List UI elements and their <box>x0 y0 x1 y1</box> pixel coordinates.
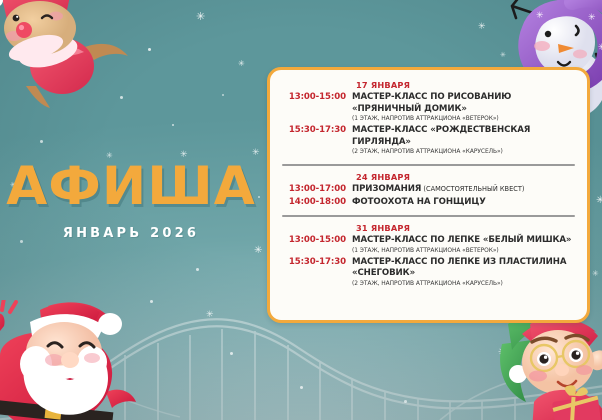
snow-dot <box>196 268 199 271</box>
event-title: МАСТЕР-КЛАСС ПО ЛЕПКЕ «БЕЛЫЙ МИШКА» <box>352 235 577 247</box>
schedule-group: 24 ЯНВАРЯ13:00-17:00ПРИЗОМАНИЯ (САМОСТОЯ… <box>278 172 579 208</box>
event-title: МАСТЕР-КЛАСС «РОЖДЕСТВЕНСКАЯ ГИРЛЯНДА» <box>352 125 577 148</box>
event-title: ФОТООХОТА НА ГОНЩИЦУ <box>352 197 577 209</box>
poster-canvas: ✳ ✳ ✳ ✳ ✳ ✳ ✳ ✳ ✳ ✳ ✳ ✳ ✳ <box>0 0 602 420</box>
santa-character <box>0 300 138 420</box>
event-time: 13:00-15:00 <box>280 235 352 247</box>
snow-dot <box>404 400 407 403</box>
event-time: 15:30-17:30 <box>280 257 352 269</box>
schedule-event-row: 15:30-17:30МАСТЕР-КЛАСС «РОЖДЕСТВЕНСКАЯ … <box>280 125 577 157</box>
schedule-event-row: 13:00-15:00МАСТЕР-КЛАСС ПО РИСОВАНИЮ«ПРЯ… <box>280 92 577 124</box>
schedule-card: 17 ЯНВАРЯ13:00-15:00МАСТЕР-КЛАСС ПО РИСО… <box>267 67 590 323</box>
schedule-event-row: 13:00-17:00ПРИЗОМАНИЯ (САМОСТОЯТЕЛЬНЫЙ К… <box>280 184 577 196</box>
event-title: ПРИЗОМАНИЯ (САМОСТОЯТЕЛЬНЫЙ КВЕСТ) <box>352 184 577 196</box>
event-location: (1 ЭТАЖ, НАПРОТИВ АТТРАКЦИОНА «ВЕТЕРОК») <box>352 247 577 256</box>
snowflake-decoration: ✳ <box>596 196 602 206</box>
event-time: 15:30-17:30 <box>280 125 352 137</box>
snow-dot <box>40 140 43 143</box>
svg-text:✳: ✳ <box>598 43 602 53</box>
page-title: АФИША <box>0 160 262 213</box>
snow-dot <box>148 48 151 51</box>
snow-dot <box>222 94 224 96</box>
event-location: (2 ЭТАЖ, НАПРОТИВ АТТРАКЦИОНА «КАРУСЕЛЬ»… <box>352 148 577 157</box>
schedule-group: 31 ЯНВАРЯ13:00-15:00МАСТЕР-КЛАСС ПО ЛЕПК… <box>278 223 579 289</box>
event-body: МАСТЕР-КЛАСС ПО ЛЕПКЕ ИЗ ПЛАСТИЛИНА«СНЕГ… <box>352 257 577 289</box>
event-body: ПРИЗОМАНИЯ (САМОСТОЯТЕЛЬНЫЙ КВЕСТ) <box>352 184 577 196</box>
event-time: 13:00-15:00 <box>280 92 352 104</box>
svg-text:✳: ✳ <box>536 11 544 21</box>
svg-text:✳: ✳ <box>588 13 596 23</box>
page-subtitle: ЯНВАРЬ 2026 <box>0 226 262 241</box>
event-title-line2: «СНЕГОВИК» <box>352 268 577 280</box>
event-time: 14:00-18:00 <box>280 197 352 209</box>
event-body: МАСТЕР-КЛАСС ПО РИСОВАНИЮ«ПРЯНИЧНЫЙ ДОМИ… <box>352 92 577 124</box>
snowflake-decoration: ✳ <box>254 246 262 256</box>
event-time: 13:00-17:00 <box>280 184 352 196</box>
section-divider <box>282 215 575 217</box>
snowflake-decoration: ✳ <box>238 60 245 68</box>
snow-dot <box>230 352 233 355</box>
event-body: МАСТЕР-КЛАСС «РОЖДЕСТВЕНСКАЯ ГИРЛЯНДА»(2… <box>352 125 577 157</box>
event-title-line2: «ПРЯНИЧНЫЙ ДОМИК» <box>352 104 577 116</box>
event-title: МАСТЕР-КЛАСС ПО ЛЕПКЕ ИЗ ПЛАСТИЛИНА <box>352 257 577 269</box>
snow-dot <box>150 300 153 303</box>
snowflake-decoration: ✳ <box>196 12 205 23</box>
event-body: ФОТООХОТА НА ГОНЩИЦУ <box>352 197 577 209</box>
schedule-event-row: 15:30-17:30МАСТЕР-КЛАСС ПО ЛЕПКЕ ИЗ ПЛАС… <box>280 257 577 289</box>
snowflake-decoration: ✳ <box>592 270 599 278</box>
reindeer-character <box>0 0 146 110</box>
schedule-event-row: 14:00-18:00ФОТООХОТА НА ГОНЩИЦУ <box>280 197 577 209</box>
event-body: МАСТЕР-КЛАСС ПО ЛЕПКЕ «БЕЛЫЙ МИШКА»(1 ЭТ… <box>352 235 577 256</box>
snow-dot <box>300 386 303 389</box>
schedule-date-heading: 31 ЯНВАРЯ <box>356 223 577 233</box>
event-title: МАСТЕР-КЛАСС ПО РИСОВАНИЮ <box>352 92 577 104</box>
schedule-date-heading: 17 ЯНВАРЯ <box>356 80 577 90</box>
event-location: (2 ЭТАЖ, НАПРОТИВ АТТРАКЦИОНА «КАРУСЕЛЬ»… <box>352 280 577 289</box>
event-location: (1 ЭТАЖ, НАПРОТИВ АТТРАКЦИОНА «ВЕТЕРОК») <box>352 115 577 124</box>
elf-character <box>486 310 602 420</box>
section-divider <box>282 164 575 166</box>
snow-dot <box>172 124 174 126</box>
event-note: (САМОСТОЯТЕЛЬНЫЙ КВЕСТ) <box>421 185 524 193</box>
snowflake-decoration: ✳ <box>206 310 214 319</box>
schedule-group: 17 ЯНВАРЯ13:00-15:00МАСТЕР-КЛАСС ПО РИСО… <box>278 80 579 157</box>
schedule-date-heading: 24 ЯНВАРЯ <box>356 172 577 182</box>
schedule-event-row: 13:00-15:00МАСТЕР-КЛАСС ПО ЛЕПКЕ «БЕЛЫЙ … <box>280 235 577 256</box>
title-block: АФИША ЯНВАРЬ 2026 <box>0 160 262 241</box>
